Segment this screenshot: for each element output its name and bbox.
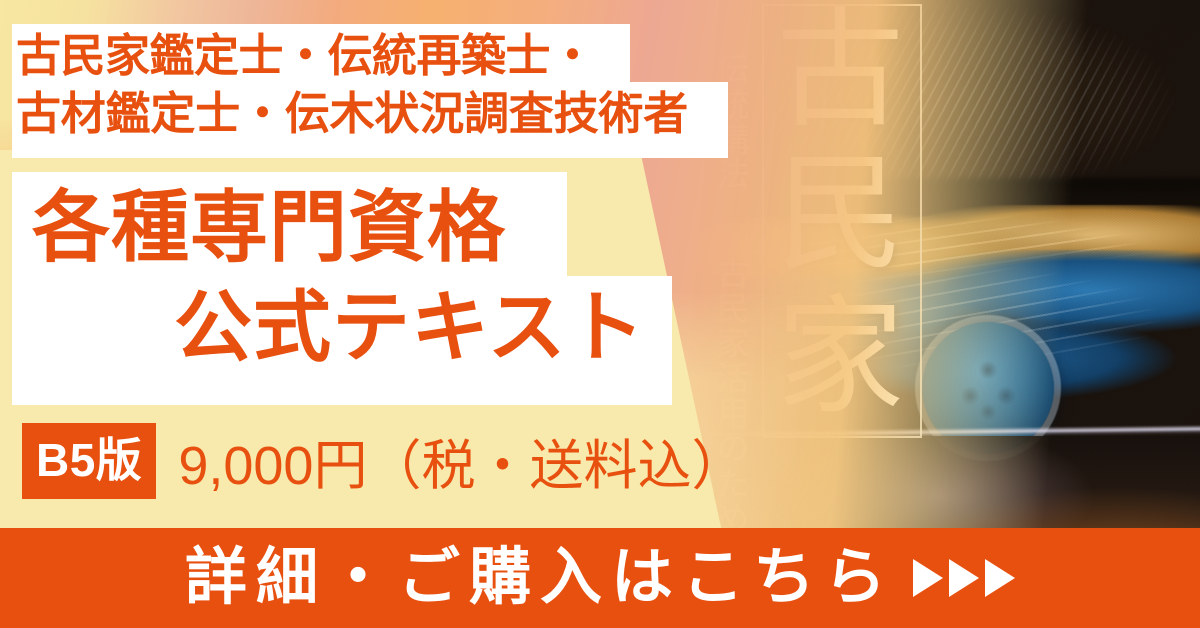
headline-line-1: 各種専門資格 bbox=[14, 178, 694, 278]
headline-text: 各種専門資格 公式テキスト bbox=[14, 178, 694, 378]
price-row: B5版 9,000円（税・送料込） bbox=[22, 421, 745, 500]
play-triangle-icon-3 bbox=[985, 559, 1015, 597]
play-triangle-icon-1 bbox=[913, 559, 943, 597]
cta-bar[interactable]: 詳細・ご購入はこちら bbox=[0, 528, 1200, 628]
certifications-line-1: 古民家鑑定士・伝統再築士・ bbox=[16, 27, 732, 85]
promo-banner[interactable]: 伝統構法 古民家活用のための調査と再生の 古 民 家 古民家鑑定士・伝統再築士・… bbox=[0, 0, 1200, 628]
cta-arrow-group bbox=[913, 559, 1015, 597]
play-triangle-icon-2 bbox=[949, 559, 979, 597]
size-badge: B5版 bbox=[22, 423, 156, 499]
certifications-line-2: 古材鑑定士・伝木状況調査技術者 bbox=[16, 85, 732, 143]
headline-line-2: 公式テキスト bbox=[14, 278, 694, 378]
cta-label: 詳細・ご購入はこちら bbox=[185, 547, 895, 609]
price-text: 9,000円（税・送料込） bbox=[178, 421, 745, 500]
certifications-text: 古民家鑑定士・伝統再築士・ 古材鑑定士・伝木状況調査技術者 bbox=[16, 27, 732, 142]
